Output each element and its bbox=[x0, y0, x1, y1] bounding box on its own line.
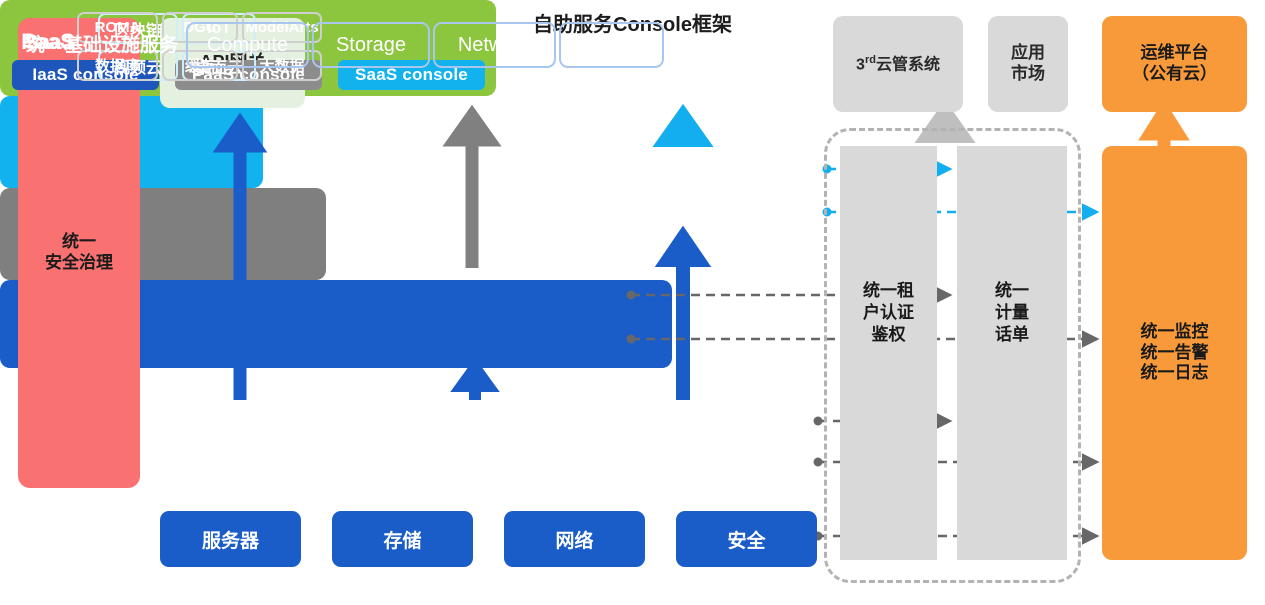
arrow-infra-to-saas bbox=[668, 238, 698, 400]
third-party-sup: rd bbox=[865, 54, 876, 66]
ops-platform-box[interactable]: 运维平台 （公有云） bbox=[1102, 16, 1247, 112]
infra-item-network[interactable]: Network bbox=[433, 22, 556, 68]
auth-line-2: 户认证 bbox=[840, 302, 937, 324]
app-market-line-1: 应用 bbox=[1011, 43, 1045, 64]
metering-column-band[interactable] bbox=[957, 146, 1067, 560]
metering-line-2: 计量 bbox=[957, 302, 1067, 324]
third-party-label: 3rd云管系统 bbox=[856, 54, 940, 75]
third-party-cloud-mgmt-box[interactable]: 3rd云管系统 bbox=[833, 16, 963, 112]
hardware-item-storage[interactable]: 存储 bbox=[332, 511, 473, 567]
arrow-infra-to-paas bbox=[462, 368, 488, 400]
metering-line-1: 统一 bbox=[957, 280, 1067, 302]
metering-line-3: 话单 bbox=[957, 324, 1067, 346]
hardware-item-security[interactable]: 安全 bbox=[676, 511, 817, 567]
hardware-item-network[interactable]: 网络 bbox=[504, 511, 645, 567]
ops-monitoring-column[interactable]: 统一监控 统一告警 统一日志 bbox=[1102, 146, 1247, 560]
arrow-paas-to-console bbox=[455, 116, 489, 268]
ops-platform-line-2: （公有云） bbox=[1132, 64, 1217, 85]
auth-line-3: 鉴权 bbox=[840, 324, 937, 346]
ops-column-line-1: 统一监控 bbox=[1141, 322, 1209, 343]
ops-column-line-3: 统一日志 bbox=[1141, 363, 1209, 384]
ops-platform-line-1: 运维平台 bbox=[1132, 43, 1217, 64]
third-party-suffix: 云管系统 bbox=[876, 56, 940, 73]
auth-line-1: 统一租 bbox=[840, 280, 937, 302]
governance-line-1: 统一 bbox=[45, 232, 113, 253]
hardware-item-server[interactable]: 服务器 bbox=[160, 511, 301, 567]
metering-column-label: 统一 计量 话单 bbox=[957, 280, 1067, 346]
third-party-prefix: 3 bbox=[856, 56, 865, 73]
auth-column-label: 统一租 户认证 鉴权 bbox=[840, 280, 937, 346]
infra-item-cce[interactable]: CCE bbox=[559, 22, 664, 68]
architecture-diagram: 统一 安全治理 API网关 自助服务Console框架 IaaS console… bbox=[0, 0, 1265, 605]
infrastructure-label: 统一基础设施服务 bbox=[14, 30, 190, 57]
app-market-box[interactable]: 应用 市场 bbox=[988, 16, 1068, 112]
ops-column-line-2: 统一告警 bbox=[1141, 343, 1209, 364]
infra-item-compute[interactable]: Compute bbox=[186, 22, 309, 68]
infra-item-storage[interactable]: Storage bbox=[312, 22, 430, 68]
arrow-to-ops-platform bbox=[1150, 112, 1178, 148]
auth-column-band[interactable] bbox=[840, 146, 937, 560]
governance-line-2: 安全治理 bbox=[45, 253, 113, 274]
app-market-line-2: 市场 bbox=[1011, 64, 1045, 85]
arrow-saas-to-console bbox=[666, 116, 700, 146]
